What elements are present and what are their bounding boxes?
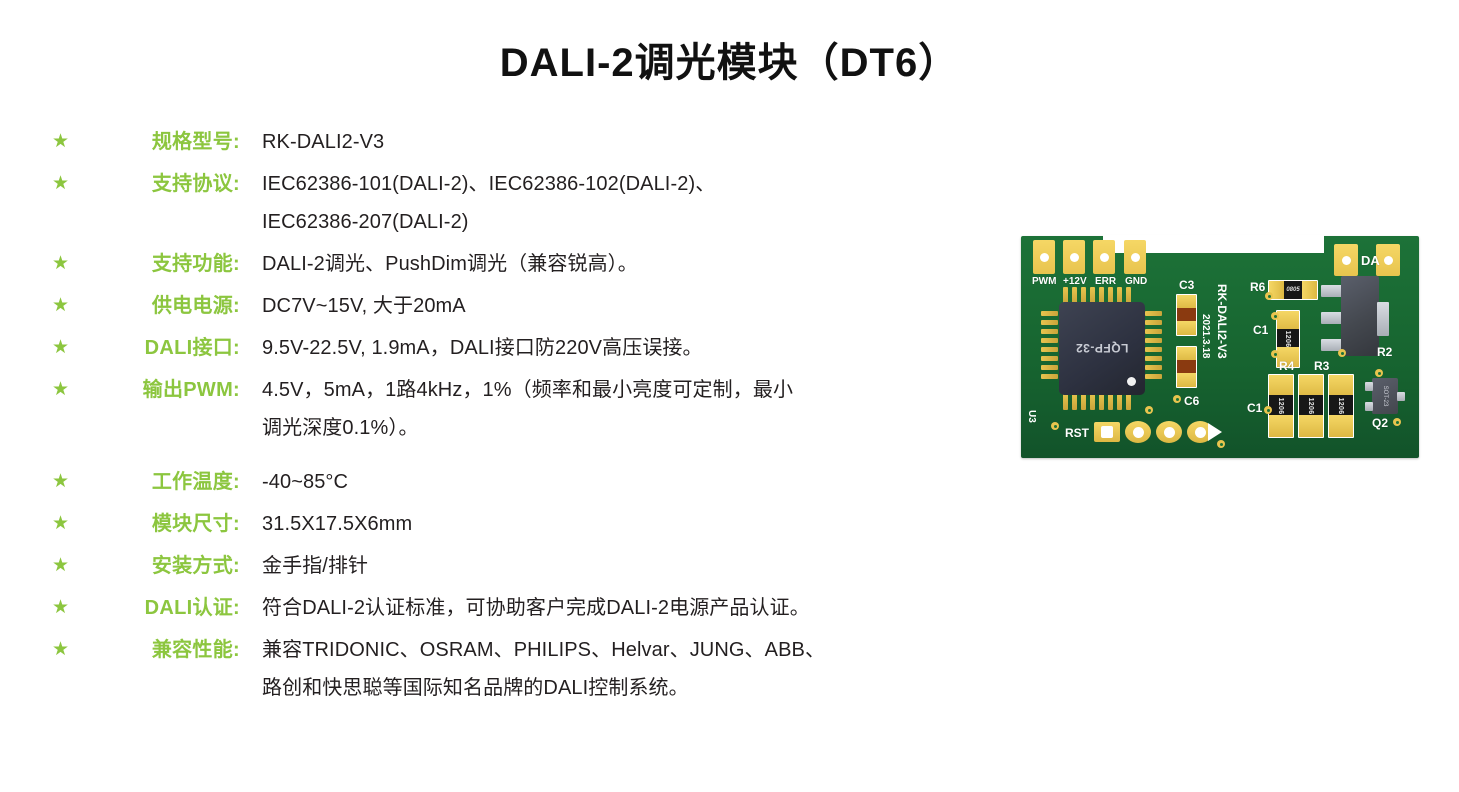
spec-row-compatibility: ★ 兼容性能: 兼容TRIDONIC、OSRAM、PHILIPS、Helvar、… (52, 631, 1022, 707)
silk-label-err: ERR (1095, 277, 1116, 287)
star-icon: ★ (52, 165, 78, 203)
silk-label-pwm: PWM (1032, 277, 1056, 287)
star-icon: ★ (52, 505, 78, 543)
component-q2: SOT-23 (1372, 378, 1398, 414)
spec-row-dali-interface: ★ DALI接口: 9.5V-22.5V, 1.9mA，DALI接口防220V高… (52, 329, 1022, 367)
lead-q3-1 (1321, 285, 1343, 297)
spec-label: 兼容性能: (78, 631, 240, 669)
silk-board-marking: RK-DALI2-V3 (1215, 284, 1229, 359)
spec-value: 4.5V，5mA，1路4kHz，1%（频率和最小亮度可定制，最小 调光深度0.1… (240, 371, 1022, 447)
spec-label: 安装方式: (78, 547, 240, 585)
silk-label-c3: C3 (1179, 279, 1194, 291)
test-point-1 (1125, 421, 1151, 443)
silk-label-r6: R6 (1250, 281, 1265, 293)
star-icon: ★ (52, 589, 78, 627)
pcb-board-image: PWM +12V ERR GND DA LQFP-32 U3 C3 C6 RK-… (1021, 236, 1419, 458)
lead-q2-2 (1365, 402, 1373, 411)
spec-row-mounting: ★ 安装方式: 金手指/排针 (52, 547, 1022, 585)
spec-row-function: ★ 支持功能: DALI-2调光、PushDim调光（兼容锐高）。 (52, 245, 1022, 283)
silk-label-rst: RST (1065, 427, 1089, 439)
spec-label: 供电电源: (78, 287, 240, 325)
lead-q2-3 (1397, 392, 1405, 401)
via-mid (1145, 406, 1153, 414)
silk-label-r2: R3 (1314, 360, 1329, 372)
smd-code-r2: 1206 (1309, 393, 1373, 419)
test-point-rst (1094, 422, 1120, 442)
pad-gnd (1124, 240, 1146, 274)
star-icon: ★ (52, 463, 78, 501)
page-title: DALI-2调光模块（DT6） (0, 30, 1459, 88)
star-icon: ★ (52, 123, 78, 161)
mcu-chip-lqfp32: LQFP-32 (1059, 302, 1145, 395)
spec-label: 支持协议: (78, 165, 240, 203)
spec-value: IEC62386-101(DALI-2)、IEC62386-102(DALI-2… (240, 165, 1022, 241)
pad-err (1093, 240, 1115, 274)
spec-value: -40~85°C (240, 463, 1022, 501)
mcu-pins-left (1041, 311, 1058, 383)
spec-row-model: ★ 规格型号: RK-DALI2-V3 (52, 123, 1022, 161)
component-r2: 1206 (1328, 374, 1354, 438)
spec-row-protocol: ★ 支持协议: IEC62386-101(DALI-2)、IEC62386-10… (52, 165, 1022, 241)
spec-value: 符合DALI-2认证标准，可协助客户完成DALI-2电源产品认证。 (240, 589, 1022, 627)
spec-label: DALI接口: (78, 329, 240, 367)
silk-label-r3: R4 (1279, 360, 1294, 372)
via-q2-bot (1393, 418, 1401, 426)
lead-q3-tab (1377, 302, 1389, 336)
spec-row-power-supply: ★ 供电电源: DC7V~15V, 大于20mA (52, 287, 1022, 325)
silk-label-gnd: GND (1125, 277, 1147, 287)
silk-label-c6: C6 (1184, 395, 1199, 407)
star-icon: ★ (52, 287, 78, 325)
star-icon: ★ (52, 245, 78, 283)
spec-value: 金手指/排针 (240, 547, 1022, 585)
via-q3 (1338, 349, 1346, 357)
star-icon: ★ (52, 329, 78, 367)
spec-value: 9.5V-22.5V, 1.9mA，DALI接口防220V高压误接。 (240, 329, 1022, 367)
lead-q2-1 (1365, 382, 1373, 391)
via-q2-top (1375, 369, 1383, 377)
spec-value: 31.5X17.5X6mm (240, 505, 1022, 543)
silk-label-q3: R2 (1377, 346, 1392, 358)
test-point-2 (1156, 421, 1182, 443)
spec-row-pwm-output: ★ 输出PWM: 4.5V，5mA，1路4kHz，1%（频率和最小亮度可定制，最… (52, 371, 1022, 447)
spec-value: DALI-2调光、PushDim调光（兼容锐高）。 (240, 245, 1022, 283)
mcu-pins-right (1145, 311, 1162, 383)
pad-12v (1063, 240, 1085, 274)
via-u3 (1051, 422, 1059, 430)
spec-value: DC7V~15V, 大于20mA (240, 287, 1022, 325)
star-icon: ★ (52, 547, 78, 585)
lead-q3-2 (1321, 312, 1343, 324)
star-icon: ★ (52, 631, 78, 669)
silk-label-q2: Q2 (1372, 417, 1388, 429)
spec-label: 规格型号: (78, 123, 240, 161)
pad-da-1 (1334, 244, 1358, 276)
spec-row-module-size: ★ 模块尺寸: 31.5X17.5X6mm (52, 505, 1022, 543)
spec-label: 输出PWM: (78, 371, 240, 409)
silk-board-date: 2021.3.18 (1200, 314, 1211, 359)
via-c6 (1173, 395, 1181, 403)
component-c6 (1176, 346, 1197, 388)
via-r4 (1264, 406, 1272, 414)
component-q3 (1341, 276, 1379, 356)
smd-code-r6: 0805 (1284, 281, 1303, 299)
spec-label: 工作温度: (78, 463, 240, 501)
pad-pwm (1033, 240, 1055, 274)
component-c3 (1176, 294, 1197, 336)
smd-code-c1: 1206 (1259, 327, 1317, 351)
spec-value: 兼容TRIDONIC、OSRAM、PHILIPS、Helvar、JUNG、ABB… (240, 631, 1022, 707)
spec-value: RK-DALI2-V3 (240, 123, 1022, 161)
mcu-pins-bottom (1063, 393, 1135, 410)
star-icon: ★ (52, 371, 78, 409)
polarity-marker-icon (1208, 423, 1222, 441)
silk-label-da: DA (1361, 254, 1380, 267)
via-r6 (1265, 292, 1273, 300)
silk-label-12v: +12V (1063, 277, 1087, 287)
spec-label: DALI认证: (78, 589, 240, 627)
spec-label: 支持功能: (78, 245, 240, 283)
silk-label-u3: U3 (1026, 410, 1037, 423)
via-c1-b (1271, 350, 1279, 358)
component-r6: 0805 (1268, 280, 1318, 300)
specification-list: ★ 规格型号: RK-DALI2-V3 ★ 支持协议: IEC62386-101… (52, 123, 1022, 711)
via-c1 (1271, 312, 1279, 320)
via-bottom (1217, 440, 1225, 448)
spec-row-operating-temperature: ★ 工作温度: -40~85°C (52, 463, 1022, 501)
spec-label: 模块尺寸: (78, 505, 240, 543)
spec-row-dali-certification: ★ DALI认证: 符合DALI-2认证标准，可协助客户完成DALI-2电源产品… (52, 589, 1022, 627)
